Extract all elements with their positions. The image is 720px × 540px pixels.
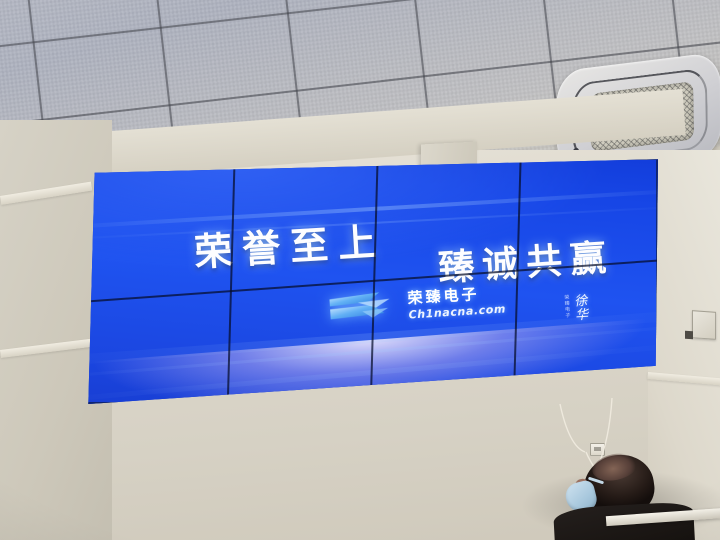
double-chevron-arrow-logo-icon bbox=[327, 289, 401, 327]
seated-person bbox=[548, 449, 698, 540]
room-scene: 荣誉至上 臻诚共赢 荣臻电子 Ch1nacna.co bbox=[0, 0, 720, 540]
wall-mounted-control-box[interactable] bbox=[692, 310, 716, 340]
lcd-video-wall[interactable]: 荣誉至上 臻诚共赢 荣臻电子 Ch1nacna.co bbox=[86, 158, 658, 404]
signature-caption: 荣臻电子 bbox=[563, 294, 569, 318]
wall-box-connector-icon bbox=[685, 331, 693, 340]
signature-group: 荣臻电子 徐华 bbox=[563, 293, 586, 322]
signature-name: 徐华 bbox=[571, 293, 586, 322]
logo-wordmark: 荣臻电子 Ch1nacna.com bbox=[407, 285, 506, 320]
